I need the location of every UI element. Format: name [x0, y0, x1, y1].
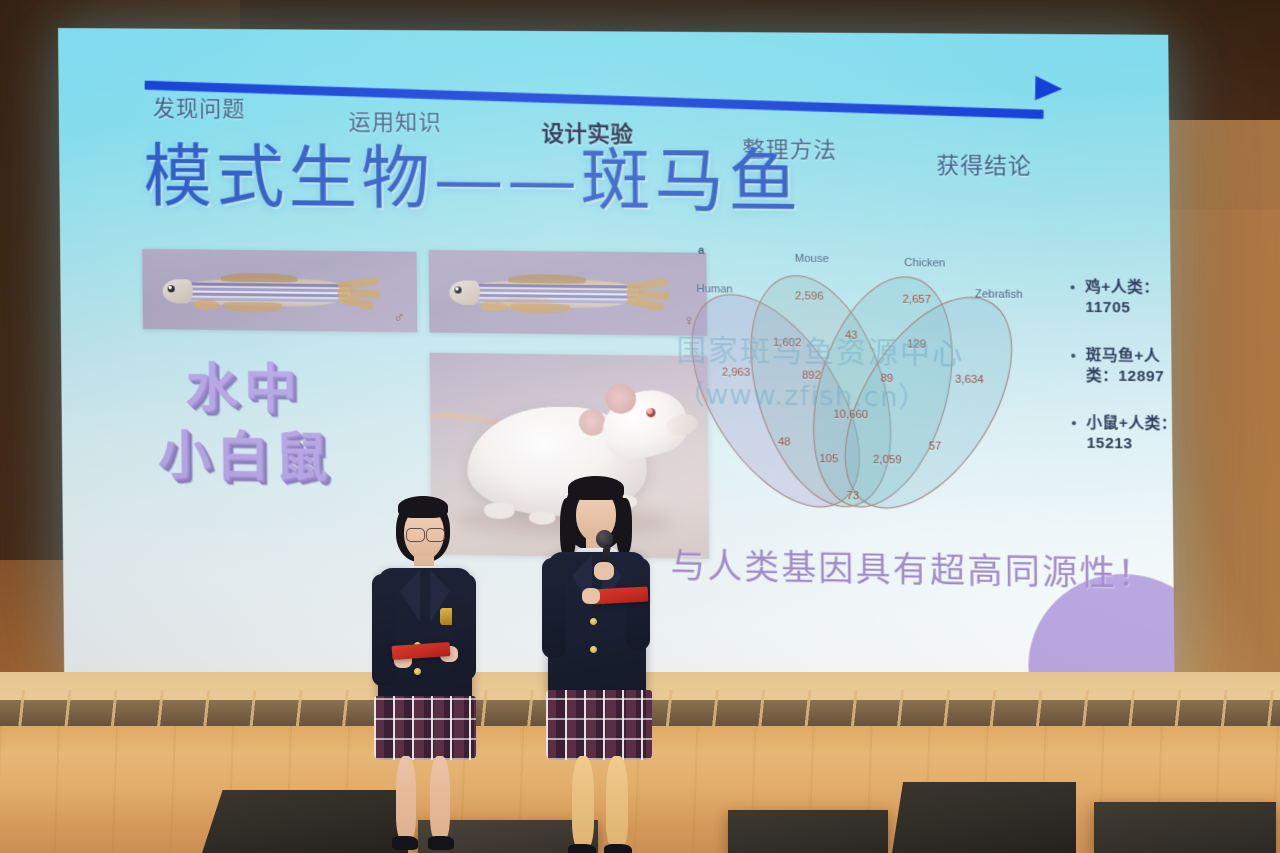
venn-label-mouse: Mouse: [795, 253, 829, 266]
zebrafish-illustration: [158, 269, 390, 316]
venn-label-chicken: Chicken: [904, 257, 945, 270]
process-step-2: 运用知识: [348, 104, 442, 137]
presenter-left: [348, 496, 488, 853]
slide-title: 模式生物——斑马鱼: [143, 144, 802, 219]
hair-side-strand: [616, 498, 632, 556]
shoe-right: [428, 836, 454, 850]
shoe-right: [604, 844, 632, 853]
plaid-skirt: [374, 696, 476, 760]
arm-right: [626, 558, 650, 650]
venn-value-bottom: 73: [846, 490, 859, 502]
venn-value-mouse-only: 2,596: [795, 290, 823, 303]
process-step-5: 获得结论: [936, 147, 1032, 180]
hair-side-strand: [560, 498, 576, 560]
slide-left-text-line1: 水中: [185, 360, 302, 420]
plaid-skirt: [546, 690, 652, 760]
stage-scene: 发现问题 运用知识 设计实验 整理方法 获得结论 模式生物——斑马鱼: [0, 0, 1280, 853]
venn-panel-letter: a: [698, 245, 704, 257]
venn-value-zebrafish-only: 3,634: [955, 374, 984, 387]
stage-monitor-speaker: [1094, 802, 1276, 853]
process-step-1: 发现问题: [153, 91, 246, 124]
arm-left: [542, 558, 566, 658]
blazer-button: [590, 646, 597, 653]
bullet-item-chicken-human: 鸡+人类：11705: [1070, 277, 1174, 320]
slide-left-text-line2: 小白鼠: [158, 427, 334, 488]
leg-right: [606, 756, 628, 848]
hand-folder: [582, 588, 600, 604]
zebrafish-illustration: [445, 270, 680, 317]
shoe-left: [568, 844, 596, 853]
bullet-item-mouse-human: 小鼠+人类：15213: [1072, 413, 1175, 456]
shoe-left: [392, 836, 418, 850]
leg-left: [396, 756, 416, 840]
venn-value-mouse-chicken: 43: [845, 329, 858, 341]
venn-value-lower-right-triple: 2,059: [873, 454, 902, 467]
male-symbol-icon: ♂: [394, 309, 406, 326]
bullet-item-zebrafish-human: 斑马鱼+人类：12897: [1071, 345, 1175, 388]
venn-value-human-only: 2,963: [722, 367, 750, 380]
arm-left: [372, 574, 396, 686]
venn-value-lower-left-triple: 105: [819, 453, 838, 465]
leg-right: [430, 756, 450, 840]
hand-microphone: [594, 562, 614, 580]
glasses-icon: [406, 528, 444, 540]
blazer-button: [590, 618, 597, 625]
venn-value-chicken-zebrafish: 129: [907, 338, 926, 350]
venn-value-human-zebrafish: 48: [778, 436, 791, 448]
stage-monitor-speaker: [892, 782, 1076, 853]
venn-value-human-mouse-chicken: 892: [802, 370, 821, 382]
venn-value-mouse-chicken-zebrafish: 89: [880, 373, 893, 385]
arm-right: [452, 574, 476, 680]
venn-value-chicken-only: 2,657: [902, 294, 931, 307]
venn-value-all-four: 10,660: [833, 409, 868, 422]
red-folder: [592, 587, 649, 605]
zebrafish-photo-female: ♀: [429, 250, 707, 336]
venn-diagram: a Human Mouse Chicken Zebrafish 2,963 2,…: [688, 247, 1031, 526]
stage-monitor-speaker: [728, 810, 888, 853]
zebrafish-photo-male: ♂: [142, 249, 417, 333]
leg-left: [572, 756, 594, 848]
venn-value-human-mouse: 1,602: [773, 337, 801, 350]
venn-value-zebrafish-pair: 57: [929, 440, 942, 452]
hair-fringe: [398, 496, 448, 518]
presenter-right: [520, 476, 670, 853]
slide-bullet-list: 鸡+人类：11705 斑马鱼+人类：12897 小鼠+人类：15213: [1070, 277, 1174, 482]
blazer-button: [414, 668, 421, 675]
slide-conclusion-text: 与人类基因具有超高同源性！: [670, 538, 1155, 596]
hair-fringe: [568, 476, 624, 500]
